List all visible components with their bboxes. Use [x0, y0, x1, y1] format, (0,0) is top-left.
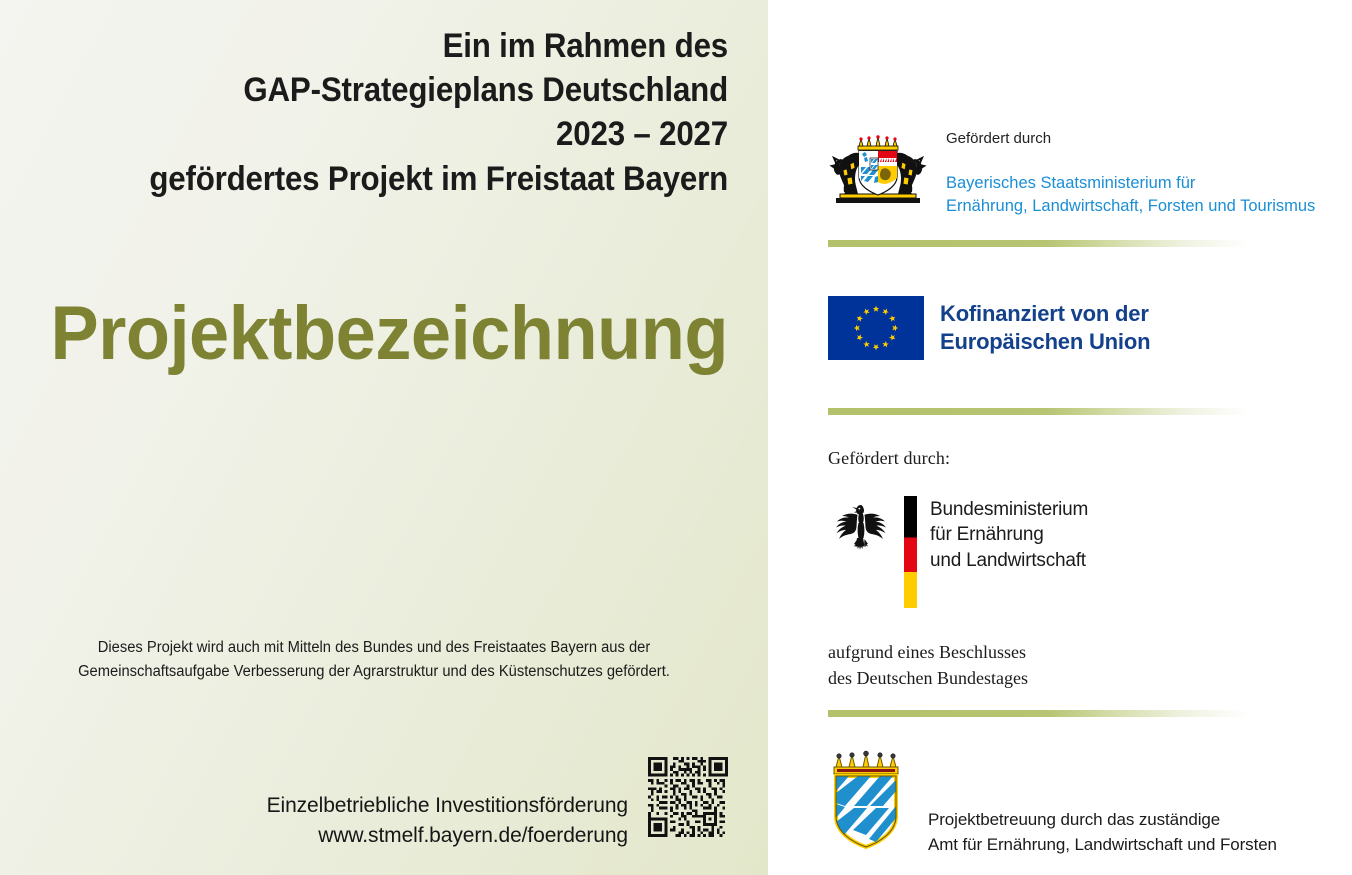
german-flag-bar-icon: [904, 496, 917, 608]
federal-ministry-name-line-3: und Landwirtschaft: [930, 548, 1088, 573]
page-title: Projektbezeichnung: [36, 296, 728, 372]
right-panel: Gefördert durch Bayerisches Staatsminist…: [768, 0, 1352, 875]
federal-ministry-name: Bundesministerium für Ernährung und Land…: [930, 497, 1088, 573]
divider-2: [828, 408, 1248, 415]
footer-programme-label: Einzelbetriebliche Investitionsförderung: [0, 791, 628, 821]
funded-by-label: Gefördert durch: [946, 130, 1346, 148]
project-supervision-line-1: Projektbetreuung durch das zuständige: [928, 808, 1277, 833]
bavarian-shield-icon: [828, 750, 904, 850]
bundestag-note-line-2: des Deutschen Bundestages: [828, 666, 1028, 692]
header-line-1: Ein im Rahmen des: [58, 24, 728, 68]
eu-cofunding-line-2: Europäischen Union: [940, 328, 1150, 356]
funder-european-union: Kofinanziert von der Europäischen Union: [828, 296, 1348, 366]
header-line-2: GAP-Strategieplans Deutschland: [58, 68, 728, 112]
federal-ministry-name-line-2: für Ernährung: [930, 522, 1088, 547]
divider-1: [828, 240, 1248, 247]
bavarian-ministry-name: Bayerisches Staatsministerium für Ernähr…: [946, 172, 1346, 219]
european-union-flag-icon: [828, 296, 924, 360]
bavarian-ministry-name-line-2: Ernährung, Landwirtschaft, Forsten und T…: [946, 195, 1346, 218]
qr-code-icon[interactable]: [648, 757, 728, 837]
project-supervision-text: Projektbetreuung durch das zuständige Am…: [928, 808, 1277, 857]
bavarian-ministry-texts: Gefördert durch Bayerisches Staatsminist…: [946, 130, 1346, 219]
bavarian-ministry-name-line-1: Bayerisches Staatsministerium für: [946, 172, 1346, 195]
bundestag-resolution-note: aufgrund eines Beschlusses des Deutschen…: [828, 640, 1028, 691]
eu-cofunding-line-1: Kofinanziert von der: [940, 300, 1150, 328]
funded-by-label-federal: Gefördert durch:: [828, 448, 1348, 469]
left-panel: Ein im Rahmen des GAP-Strategieplans Deu…: [0, 0, 768, 875]
footer-block: Einzelbetriebliche Investitionsförderung…: [0, 791, 628, 851]
footer-url[interactable]: www.stmelf.bayern.de/foerderung: [0, 821, 628, 851]
header-line-4: gefördertes Projekt im Freistaat Bayern: [58, 157, 728, 201]
fine-print: Dieses Projekt wird auch mit Mitteln des…: [38, 636, 711, 684]
bundestag-note-line-1: aufgrund eines Beschlusses: [828, 640, 1028, 666]
bavarian-coat-of-arms-icon: [828, 134, 928, 206]
project-supervision-line-2: Amt für Ernährung, Landwirtschaft und Fo…: [928, 833, 1277, 858]
divider-3: [828, 710, 1248, 717]
fine-print-line-1: Dieses Projekt wird auch mit Mitteln des…: [38, 636, 711, 660]
funder-federal-ministry: Gefördert durch:: [828, 448, 1348, 469]
federal-eagle-icon: [830, 498, 892, 556]
bmel-logo: Bundesministerium für Ernährung und Land…: [828, 496, 1128, 614]
eu-cofunding-text: Kofinanziert von der Europäischen Union: [940, 300, 1150, 355]
federal-ministry-name-line-1: Bundesministerium: [930, 497, 1088, 522]
header-block: Ein im Rahmen des GAP-Strategieplans Deu…: [58, 24, 728, 201]
fine-print-line-2: Gemeinschaftsaufgabe Verbesserung der Ag…: [38, 660, 711, 684]
funding-poster: Ein im Rahmen des GAP-Strategieplans Deu…: [0, 0, 1352, 875]
header-line-3: 2023 – 2027: [58, 112, 728, 156]
